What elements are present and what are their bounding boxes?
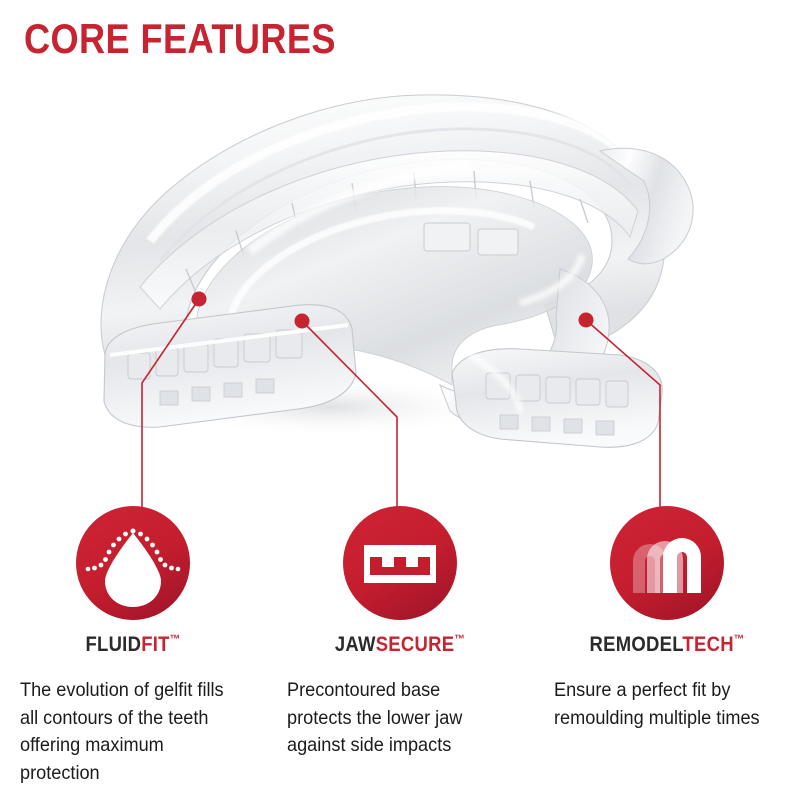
nested-arches-icon (609, 505, 725, 621)
feature-label-dark: REMODEL (589, 633, 682, 656)
jaw-base-icon (342, 505, 458, 621)
feature-jaw-secure[interactable]: JAWSECURE™ Precontoured base protects th… (267, 505, 534, 788)
feature-label-dark: JAW (335, 633, 376, 656)
feature-label-dark: FLUID (86, 633, 142, 656)
feature-label-red: TECH (682, 633, 733, 656)
droplet-icon (75, 505, 191, 621)
infographic-page: CORE FEATURES (0, 0, 800, 800)
feature-label-red: FIT (142, 633, 171, 656)
feature-label-red: SECURE (376, 633, 455, 656)
feature-description: Precontoured base protects the lower jaw… (287, 677, 503, 760)
feature-label-fluid-fit: FLUIDFIT™ (86, 633, 181, 655)
trademark-mark: ™ (454, 632, 465, 646)
features-row: FLUIDFIT™ The evolution of gelfit fills … (0, 505, 800, 788)
feature-description: Ensure a perfect fit by remoulding multi… (554, 677, 770, 732)
trademark-mark: ™ (170, 632, 181, 646)
page-title: CORE FEATURES (24, 18, 336, 60)
product-image-stage (0, 55, 800, 455)
feature-label-remodel-tech: REMODELTECH™ (589, 633, 744, 655)
feature-label-jaw-secure: JAWSECURE™ (335, 633, 465, 655)
feature-fluid-fit[interactable]: FLUIDFIT™ The evolution of gelfit fills … (0, 505, 267, 788)
feature-description: The evolution of gelfit fills all contou… (20, 677, 236, 788)
trademark-mark: ™ (733, 632, 744, 646)
clear-mouthguard-image (0, 55, 800, 455)
feature-remodel-tech[interactable]: REMODELTECH™ Ensure a perfect fit by rem… (533, 505, 800, 788)
